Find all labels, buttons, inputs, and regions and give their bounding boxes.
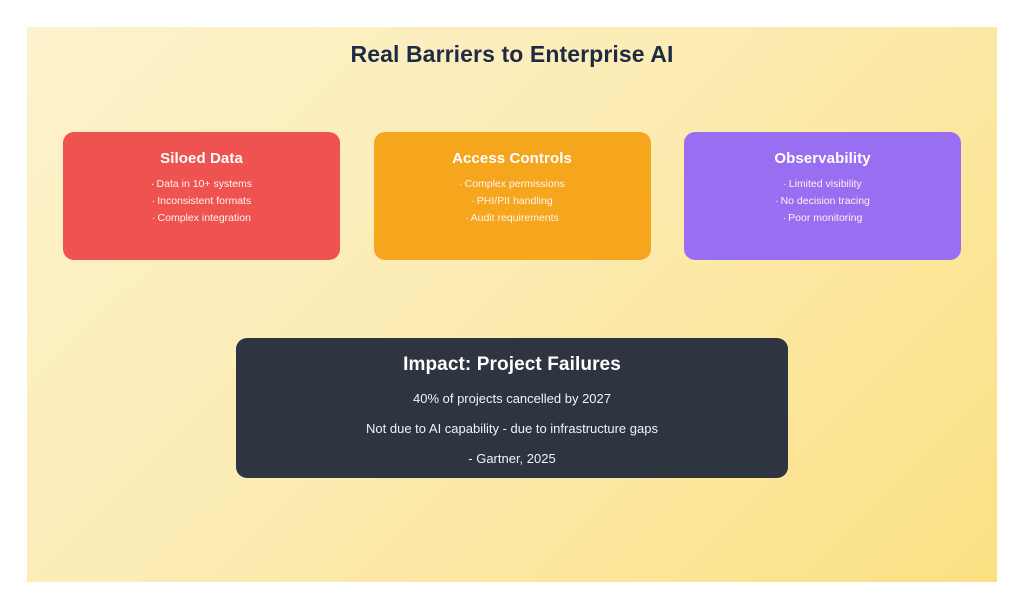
page-title: Real Barriers to Enterprise AI bbox=[27, 41, 997, 68]
barrier-card-title: Observability bbox=[774, 150, 870, 167]
bullet-dot-icon: · bbox=[459, 178, 463, 190]
impact-panel: Impact: Project Failures 40% of projects… bbox=[236, 338, 788, 478]
barrier-card-siloed-data[interactable]: Siloed Data ·Data in 10+ systems ·Incons… bbox=[63, 132, 340, 260]
barrier-card-bullet-list: ·Limited visibility ·No decision tracing… bbox=[775, 177, 870, 225]
bullet-dot-icon: · bbox=[152, 212, 156, 224]
list-item-label: PHI/PII handling bbox=[477, 195, 553, 207]
list-item: ·Audit requirements bbox=[465, 211, 559, 225]
list-item: ·PHI/PII handling bbox=[471, 194, 552, 208]
barrier-card-bullet-list: ·Data in 10+ systems ·Inconsistent forma… bbox=[151, 177, 252, 225]
list-item: ·Poor monitoring bbox=[783, 211, 863, 225]
barrier-card-title: Siloed Data bbox=[160, 150, 243, 167]
bullet-dot-icon: · bbox=[465, 212, 469, 224]
barrier-card-bullet-list: ·Complex permissions ·PHI/PII handling ·… bbox=[459, 177, 565, 225]
slide-canvas: Real Barriers to Enterprise AI Siloed Da… bbox=[27, 27, 997, 582]
list-item-label: Audit requirements bbox=[471, 212, 559, 224]
list-item: ·Limited visibility bbox=[783, 177, 861, 191]
impact-stat-line: 40% of projects cancelled by 2027 bbox=[413, 390, 611, 408]
list-item-label: Complex integration bbox=[158, 212, 251, 224]
barrier-card-observability[interactable]: Observability ·Limited visibility ·No de… bbox=[684, 132, 961, 260]
bullet-dot-icon: · bbox=[783, 178, 787, 190]
barrier-cards-row: Siloed Data ·Data in 10+ systems ·Incons… bbox=[63, 132, 961, 260]
list-item: ·Complex permissions bbox=[459, 177, 565, 191]
bullet-dot-icon: · bbox=[471, 195, 475, 207]
list-item: ·No decision tracing bbox=[775, 194, 870, 208]
bullet-dot-icon: · bbox=[151, 178, 155, 190]
barrier-card-access-controls[interactable]: Access Controls ·Complex permissions ·PH… bbox=[374, 132, 651, 260]
list-item-label: Inconsistent formats bbox=[157, 195, 251, 207]
list-item: ·Complex integration bbox=[152, 211, 251, 225]
list-item: ·Inconsistent formats bbox=[152, 194, 251, 208]
list-item-label: Complex permissions bbox=[465, 178, 565, 190]
impact-panel-title: Impact: Project Failures bbox=[403, 354, 621, 376]
impact-explanation-line: Not due to AI capability - due to infras… bbox=[366, 420, 658, 438]
barrier-card-title: Access Controls bbox=[452, 150, 572, 167]
list-item-label: No decision tracing bbox=[781, 195, 870, 207]
list-item-label: Poor monitoring bbox=[788, 212, 862, 224]
bullet-dot-icon: · bbox=[783, 212, 787, 224]
list-item-label: Data in 10+ systems bbox=[157, 178, 252, 190]
list-item: ·Data in 10+ systems bbox=[151, 177, 252, 191]
bullet-dot-icon: · bbox=[775, 195, 779, 207]
impact-source-citation: - Gartner, 2025 bbox=[468, 450, 555, 468]
list-item-label: Limited visibility bbox=[789, 178, 862, 190]
bullet-dot-icon: · bbox=[152, 195, 156, 207]
